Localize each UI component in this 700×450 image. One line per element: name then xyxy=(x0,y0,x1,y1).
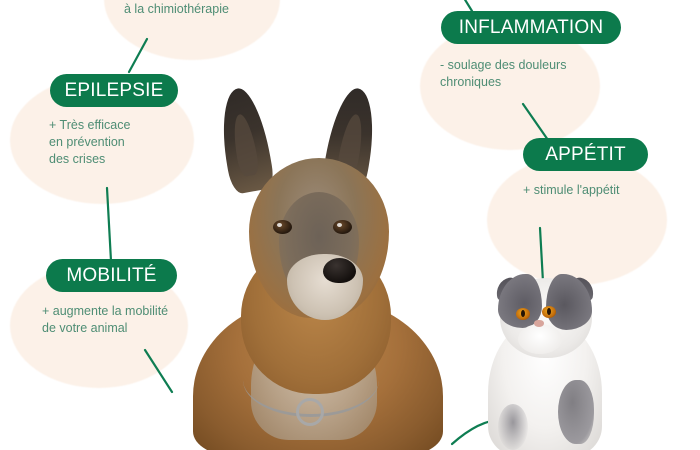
caption-chimiotherapie: à la chimiothérapie xyxy=(124,1,294,18)
caption-appetit: + stimule l'appétit xyxy=(523,182,700,199)
connector-inflammation-to-top xyxy=(459,0,472,11)
badge-mobilite[interactable]: MOBILITÉ xyxy=(46,259,177,292)
connector-epilepsie-to-chimiotherapie xyxy=(129,39,147,72)
badge-epilepsie[interactable]: EPILEPSIE xyxy=(50,74,178,107)
caption-epilepsie: + Très efficace en prévention des crises xyxy=(49,117,209,168)
badge-appetit[interactable]: APPÉTIT xyxy=(523,138,648,171)
persian-cat-photo xyxy=(480,272,610,450)
belgian-shepherd-dog-photo xyxy=(183,62,453,450)
infographic-poster: à la chimiothérapie EPILEPSIE + Très eff… xyxy=(0,0,700,450)
badge-inflammation[interactable]: INFLAMMATION xyxy=(441,11,621,44)
connector-mobilite-to-dog xyxy=(145,350,172,392)
connector-inflammation-to-appetit xyxy=(523,104,548,140)
connector-epilepsie-to-mobilite xyxy=(107,188,111,261)
badge-inflammation-label: INFLAMMATION xyxy=(459,17,604,39)
badge-epilepsie-label: EPILEPSIE xyxy=(65,80,164,102)
caption-mobilite: + augmente la mobilité de votre animal xyxy=(42,303,222,337)
caption-inflammation: - soulage des douleurs chroniques xyxy=(440,57,630,91)
badge-mobilite-label: MOBILITÉ xyxy=(66,265,156,287)
badge-appetit-label: APPÉTIT xyxy=(545,144,626,166)
